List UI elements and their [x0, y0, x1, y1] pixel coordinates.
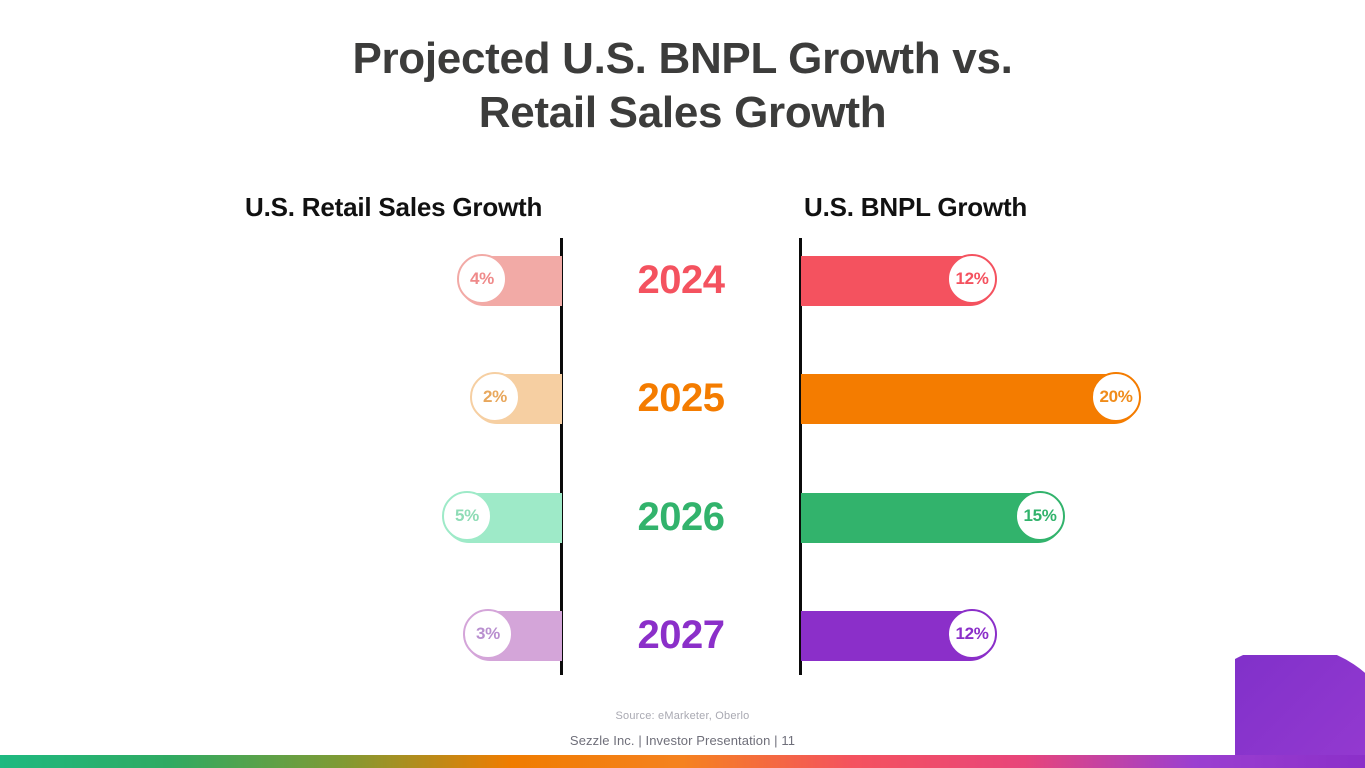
retail-growth-value-bubble: 2% — [470, 372, 520, 422]
year-label: 2026 — [562, 492, 800, 542]
bnpl-growth-value-bubble: 12% — [947, 254, 997, 304]
chart-row: 4%12%2024 — [0, 256, 1365, 306]
bnpl-growth-bar: 12% — [801, 611, 995, 661]
retail-growth-bar: 5% — [444, 493, 562, 543]
bnpl-growth-value-bubble: 12% — [947, 609, 997, 659]
year-label: 2024 — [562, 255, 800, 305]
bnpl-growth-value-bubble: 20% — [1091, 372, 1141, 422]
retail-growth-value-bubble: 3% — [463, 609, 513, 659]
bnpl-growth-value-bubble: 15% — [1015, 491, 1065, 541]
bnpl-growth-bar: 12% — [801, 256, 995, 306]
chart-row: 3%12%2027 — [0, 611, 1365, 661]
chart-row: 5%15%2026 — [0, 493, 1365, 543]
year-label: 2027 — [562, 610, 800, 660]
retail-growth-value-bubble: 4% — [457, 254, 507, 304]
year-label: 2025 — [562, 373, 800, 423]
footer-note: Sezzle Inc. | Investor Presentation | 11 — [0, 733, 1365, 748]
diverging-bar-chart: 4%12%20242%20%20255%15%20263%12%2027 — [0, 0, 1365, 700]
bottom-gradient-bar — [0, 755, 1365, 768]
slide-canvas: Projected U.S. BNPL Growth vs. Retail Sa… — [0, 0, 1365, 768]
bnpl-growth-bar: 15% — [801, 493, 1063, 543]
retail-growth-bar: 4% — [459, 256, 562, 306]
source-note: Source: eMarketer, Oberlo — [0, 710, 1365, 722]
retail-growth-bar: 2% — [472, 374, 562, 424]
bnpl-growth-bar: 20% — [801, 374, 1139, 424]
chart-row: 2%20%2025 — [0, 374, 1365, 424]
retail-growth-bar: 3% — [465, 611, 562, 661]
retail-growth-value-bubble: 5% — [442, 491, 492, 541]
